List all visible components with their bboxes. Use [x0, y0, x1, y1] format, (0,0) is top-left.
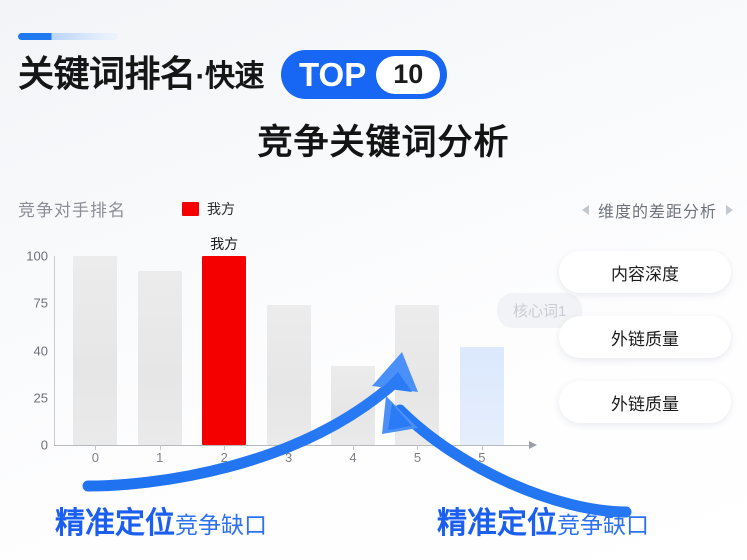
bar-1[interactable] — [138, 271, 182, 445]
dimension-pill-label: 内容深度 — [611, 260, 679, 285]
header-title-sub: 快速 — [205, 60, 264, 93]
x-axis-tick: 0 — [92, 450, 99, 465]
x-axis-tick: 3 — [285, 450, 292, 465]
bar-4[interactable] — [331, 366, 375, 445]
caption-left: 精准定位 竞争缺口 — [55, 498, 267, 542]
main-heading: 竞争关键词分析 — [0, 114, 747, 165]
dimension-pill-3[interactable]: 外链质量 — [559, 381, 731, 423]
legend-label: 我方 — [207, 199, 235, 219]
chart-section-label: 竞争对手排名 — [18, 196, 126, 221]
caption-right: 精准定位 竞争缺口 — [437, 498, 649, 542]
header-title-separator: · — [196, 60, 206, 93]
legend-color-swatch — [182, 202, 199, 216]
bar-5[interactable] — [395, 305, 439, 445]
top-badge-circle: 10 — [376, 56, 440, 94]
dimension-pill-list: 内容深度外链质量外链质量 — [559, 251, 731, 446]
chart-legend: 我方 — [182, 199, 235, 219]
x-axis-tick: 2 — [221, 450, 228, 465]
dimension-pill-label: 外链质量 — [611, 325, 679, 350]
caption-left-strong: 精准定位 — [55, 498, 175, 542]
bar-3[interactable] — [267, 305, 311, 445]
bar-series — [54, 256, 534, 445]
competitor-bar-chart: 1007540250 012我方3455 — [10, 248, 550, 483]
x-axis-tick: 5 — [478, 450, 485, 465]
x-axis-tick: 1 — [156, 450, 163, 465]
top-badge-rank: 10 — [393, 61, 423, 88]
header-row: 关键词排名·快速 — [18, 46, 264, 102]
dimension-pill-label: 外链质量 — [611, 390, 679, 415]
bar-2-highlight[interactable] — [202, 256, 246, 445]
caption-left-light: 竞争缺口 — [175, 506, 267, 540]
poster-canvas: 关键词排名·快速 TOP 10 竞争关键词分析 竞争对手排名 我方 维度的差距分… — [0, 0, 747, 560]
dimension-pill-2[interactable]: 外链质量 — [559, 316, 731, 358]
top-badge-label: TOP — [299, 58, 366, 91]
y-axis-tick-labels: 1007540250 — [10, 248, 48, 443]
dimension-pill-1[interactable]: 内容深度 — [559, 251, 731, 293]
header-title-main: 关键词排名 — [18, 53, 196, 94]
y-axis-tick: 40 — [10, 343, 48, 358]
x-axis-tick: 4 — [349, 450, 356, 465]
x-axis-tick: 5 — [414, 450, 421, 465]
top-rank-badge[interactable]: TOP 10 — [281, 50, 447, 99]
page-title: 关键词排名·快速 — [18, 56, 264, 92]
caption-right-light: 竞争缺口 — [557, 506, 649, 540]
highlight-bar-caption: 我方 — [210, 234, 238, 254]
y-axis-tick: 25 — [10, 390, 48, 405]
x-axis-line — [54, 445, 530, 446]
triangle-left-icon — [582, 205, 589, 215]
caption-right-strong: 精准定位 — [437, 498, 557, 542]
bar-0[interactable] — [73, 256, 117, 445]
y-axis-tick: 100 — [10, 249, 48, 264]
dimension-section-label: 维度的差距分析 — [598, 198, 717, 222]
accent-progress-bar — [18, 33, 118, 40]
bar-5[interactable] — [460, 347, 504, 445]
dimension-section-header: 维度的差距分析 — [582, 198, 733, 222]
y-axis-tick: 0 — [10, 438, 48, 453]
triangle-right-icon — [726, 205, 733, 215]
y-axis-tick: 75 — [10, 296, 48, 311]
